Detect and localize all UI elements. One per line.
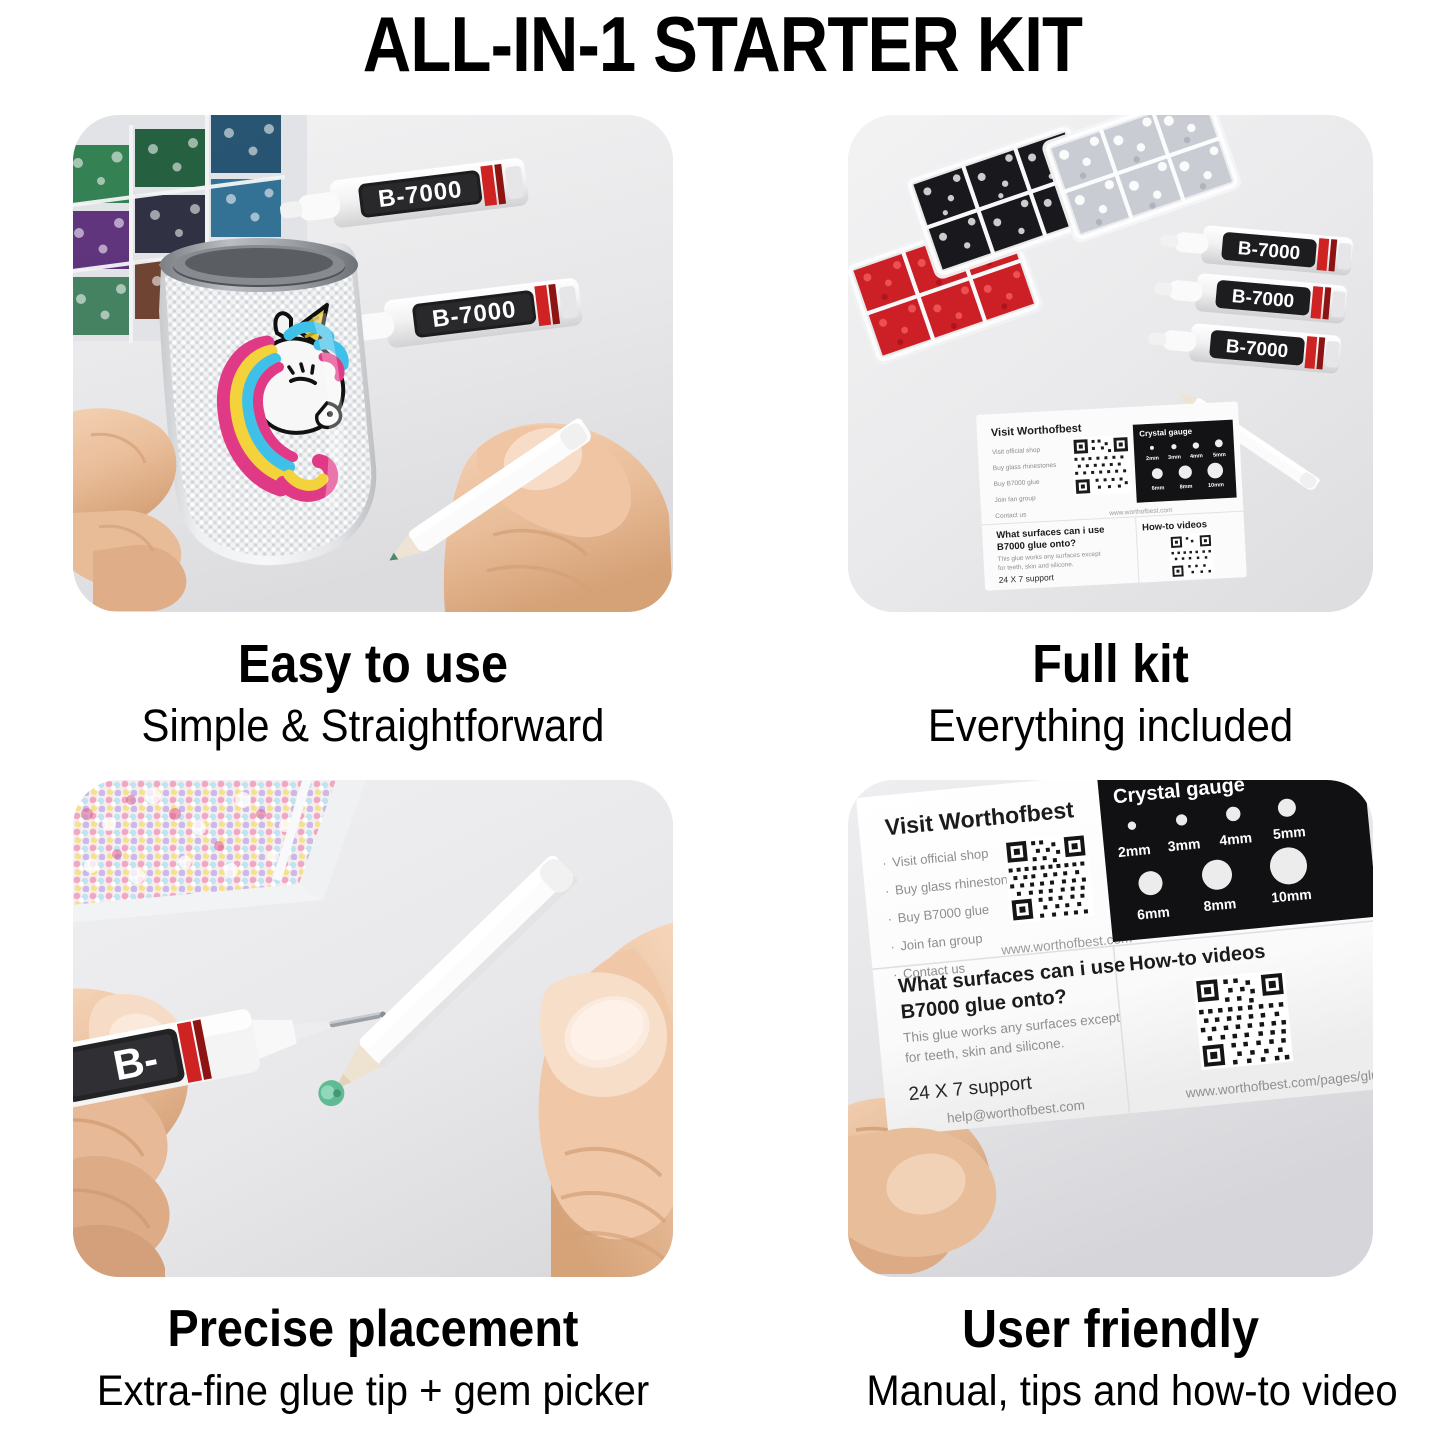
feature-cell-user-friendly: Visit Worthofbest ·Visit official shop ·… xyxy=(848,780,1373,1417)
caption-full-kit: Full kit Everything included xyxy=(848,634,1373,752)
feature-cell-full-kit: B-7000 B-7000 xyxy=(848,115,1373,752)
gauge-size-label: 8mm xyxy=(1203,895,1237,914)
feature-cell-precise-placement: B- xyxy=(73,780,673,1417)
svg-text:3mm: 3mm xyxy=(1168,454,1181,461)
photo-precise-placement-illustration: B- xyxy=(73,780,673,1277)
qr-code xyxy=(1169,533,1215,579)
photo-easy-to-use: B-7000 B-7000 xyxy=(73,115,673,612)
instruction-card: Visit Worthofbest Visit official shop Bu… xyxy=(976,401,1247,590)
page-title: ALL-IN-1 STARTER KIT xyxy=(101,2,1344,86)
caption-precise-placement: Precise placement Extra-fine glue tip + … xyxy=(73,1299,673,1417)
feature-subheading: Extra-fine glue tip + gem picker xyxy=(94,1365,652,1417)
feature-heading: Precise placement xyxy=(103,1299,643,1359)
svg-text:4mm: 4mm xyxy=(1190,453,1203,460)
photo-user-friendly-illustration: Visit Worthofbest ·Visit official shop ·… xyxy=(848,780,1373,1277)
feature-subheading: Manual, tips and how-to video xyxy=(866,1365,1354,1417)
feature-heading: Easy to use xyxy=(103,634,643,694)
gauge-size-label: 3mm xyxy=(1167,835,1201,854)
gauge-size-label: 2mm xyxy=(1117,841,1151,860)
gauge-size-label: 5mm xyxy=(1272,823,1306,842)
instruction-card: Visit Worthofbest ·Visit official shop ·… xyxy=(856,780,1373,1136)
svg-text:8mm: 8mm xyxy=(1179,484,1192,491)
photo-full-kit: B-7000 B-7000 xyxy=(848,115,1373,612)
gauge-size-label: 4mm xyxy=(1219,829,1253,848)
feature-cell-easy-to-use: B-7000 B-7000 xyxy=(73,115,673,752)
crystal-gauge: Crystal gauge 2mm3mm 4mm5mm 6mm8mm10mm xyxy=(1133,420,1237,503)
crystal-gauge: Crystal gauge 2mm 3mm 4mm 5mm xyxy=(1097,780,1373,942)
feature-subheading: Simple & Straightforward xyxy=(94,700,652,752)
svg-text:2mm: 2mm xyxy=(1146,455,1159,462)
qr-code xyxy=(1071,435,1132,496)
caption-easy-to-use: Easy to use Simple & Straightforward xyxy=(73,634,673,752)
glue-brand-label: B- xyxy=(109,1035,161,1090)
qr-code xyxy=(1193,970,1293,1070)
product-infographic: ALL-IN-1 STARTER KIT xyxy=(0,0,1445,1438)
svg-text:5mm: 5mm xyxy=(1213,452,1226,459)
photo-full-kit-illustration: B-7000 B-7000 xyxy=(848,115,1373,612)
feature-grid: B-7000 B-7000 xyxy=(0,100,1445,1438)
qr-code xyxy=(1003,832,1095,924)
rhinestone-tumbler xyxy=(159,238,376,565)
photo-easy-to-use-illustration: B-7000 B-7000 xyxy=(73,115,673,612)
photo-user-friendly: Visit Worthofbest ·Visit official shop ·… xyxy=(848,780,1373,1277)
svg-text:10mm: 10mm xyxy=(1208,482,1224,489)
feature-heading: User friendly xyxy=(874,1299,1347,1359)
gauge-size-label: 6mm xyxy=(1136,903,1170,922)
photo-precise-placement: B- xyxy=(73,780,673,1277)
svg-text:6mm: 6mm xyxy=(1152,485,1165,492)
caption-user-friendly: User friendly Manual, tips and how-to vi… xyxy=(848,1299,1373,1417)
feature-heading: Full kit xyxy=(874,634,1347,694)
feature-subheading: Everything included xyxy=(866,700,1354,752)
